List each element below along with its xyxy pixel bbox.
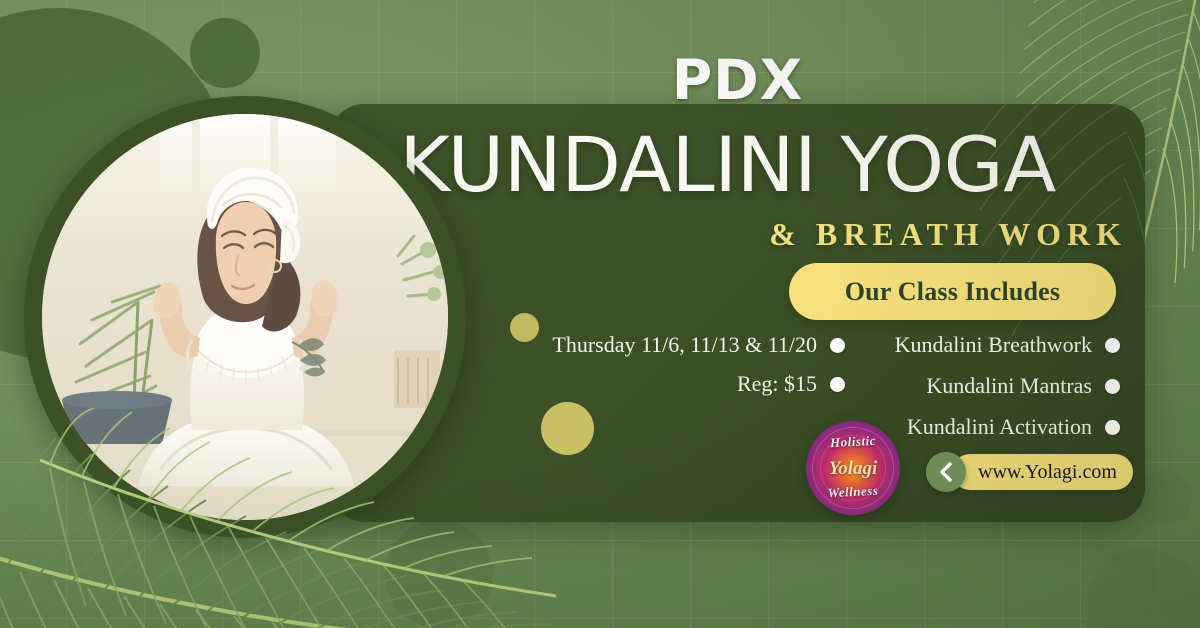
promo-banner: PDX KUNDALINI YOGA & BREATH WORK Our Cla… xyxy=(0,0,1200,628)
chevron-left-glyph xyxy=(938,462,954,482)
chevron-left-icon[interactable] xyxy=(926,452,966,492)
background-vignette xyxy=(0,0,1200,628)
